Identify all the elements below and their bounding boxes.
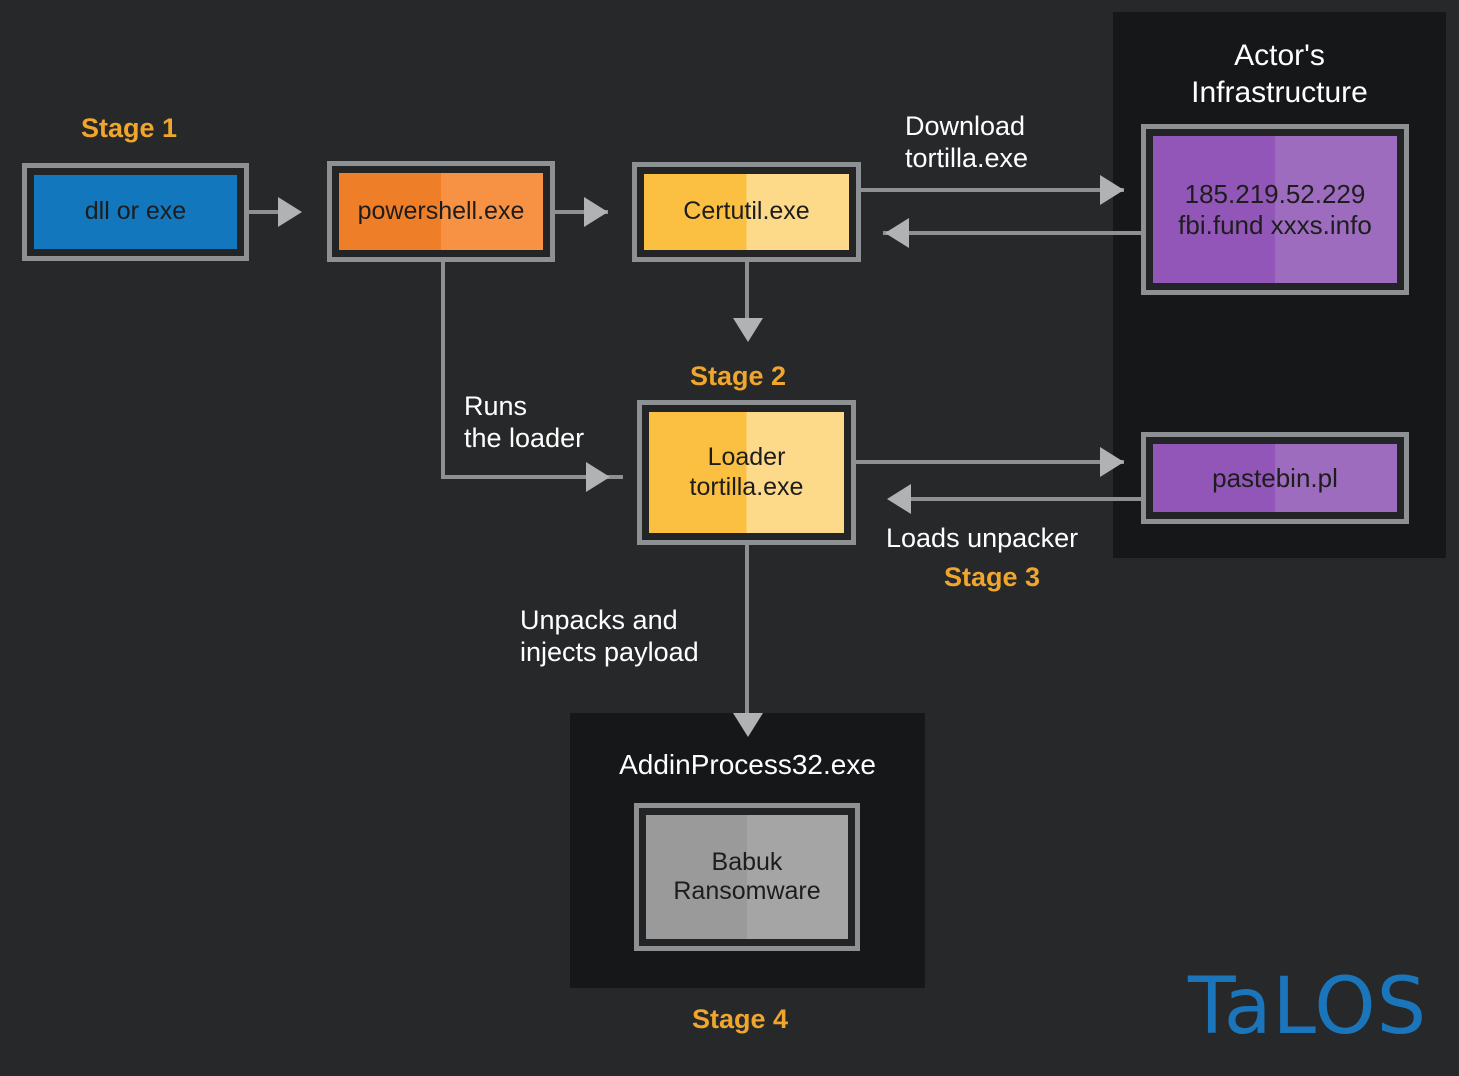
node-loader-tortilla[interactable]: Loader tortilla.exe xyxy=(637,400,856,545)
talos-logo: TaLOS xyxy=(1188,962,1427,1052)
diagram-canvas: Actor's Infrastructure 185.219.52.229 fb… xyxy=(0,0,1459,1076)
node-pastebin[interactable]: pastebin.pl xyxy=(1141,432,1409,524)
connector-powershell-down xyxy=(441,262,445,479)
edge-label-unpacks-injects: Unpacks and injects payload xyxy=(520,604,699,669)
connector-c2-to-certutil xyxy=(883,231,1141,235)
stage-2-label: Stage 2 xyxy=(690,360,786,392)
node-babuk-ransomware-label: Babuk Ransomware xyxy=(646,815,848,939)
panel-actor-infrastructure-title: Actor's Infrastructure xyxy=(1113,38,1446,111)
node-dll-or-exe-label: dll or exe xyxy=(34,175,237,249)
node-pastebin-label: pastebin.pl xyxy=(1153,444,1397,512)
edge-label-runs-loader: Runs the loader xyxy=(464,390,584,455)
node-c2-servers-label: 185.219.52.229 fbi.fund xxxs.info xyxy=(1153,136,1397,283)
arrowhead-loader-to-addinprocess xyxy=(733,713,763,737)
node-loader-tortilla-label: Loader tortilla.exe xyxy=(649,412,844,533)
arrowhead-c2-to-certutil xyxy=(885,218,909,248)
connector-loader-to-addinprocess xyxy=(745,545,749,725)
arrowhead-certutil-to-loader xyxy=(733,318,763,342)
arrowhead-certutil-to-c2 xyxy=(1100,175,1124,205)
node-c2-servers[interactable]: 185.219.52.229 fbi.fund xxxs.info xyxy=(1141,124,1409,295)
arrowhead-powershell-to-certutil xyxy=(584,197,608,227)
node-certutil-label: Certutil.exe xyxy=(644,174,849,250)
arrowhead-pastebin-to-loader xyxy=(887,484,911,514)
connector-loader-to-pastebin xyxy=(856,460,1124,464)
node-powershell[interactable]: powershell.exe xyxy=(327,161,555,262)
node-dll-or-exe[interactable]: dll or exe xyxy=(22,163,249,261)
arrowhead-dll-to-powershell xyxy=(278,197,302,227)
node-certutil[interactable]: Certutil.exe xyxy=(632,162,861,262)
stage-4-label: Stage 4 xyxy=(692,1003,788,1035)
connector-pastebin-to-loader xyxy=(893,497,1141,501)
edge-label-download: Download tortilla.exe xyxy=(905,110,1028,175)
connector-certutil-to-c2 xyxy=(861,188,1124,192)
arrowhead-powershell-to-loader xyxy=(586,462,610,492)
connector-certutil-to-loader xyxy=(745,262,749,324)
node-babuk-ransomware[interactable]: Babuk Ransomware xyxy=(634,803,860,951)
node-powershell-label: powershell.exe xyxy=(339,173,543,250)
arrowhead-loader-to-pastebin xyxy=(1100,447,1124,477)
stage-1-label: Stage 1 xyxy=(81,112,177,144)
edge-label-loads-unpacker: Loads unpacker xyxy=(886,522,1078,554)
stage-3-label: Stage 3 xyxy=(944,561,1040,593)
panel-addin-process-title: AddinProcess32.exe xyxy=(570,748,925,782)
